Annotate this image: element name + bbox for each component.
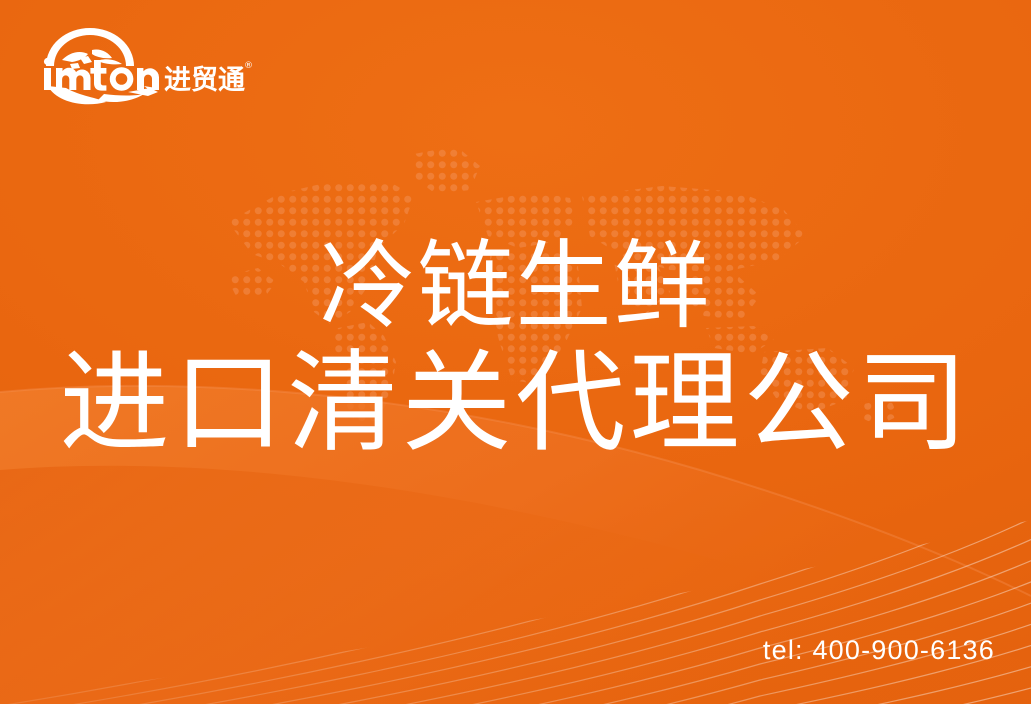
- headline-line-1: 冷链生鲜: [0, 232, 1031, 341]
- promo-banner: 进贸通 ® 冷链生鲜 进口清关代理公司 tel: 400-900-6136: [0, 0, 1031, 704]
- logo-chinese-name: 进贸通: [164, 65, 245, 96]
- headline: 冷链生鲜 进口清关代理公司: [0, 232, 1031, 467]
- globe-arc-icon: [46, 28, 134, 69]
- headline-line-2: 进口清关代理公司: [0, 341, 1031, 466]
- logo-wordmark: [44, 58, 159, 91]
- company-logo[interactable]: 进贸通 ®: [40, 26, 255, 106]
- contact-phone[interactable]: tel: 400-900-6136: [763, 635, 995, 666]
- registered-mark: ®: [244, 61, 253, 71]
